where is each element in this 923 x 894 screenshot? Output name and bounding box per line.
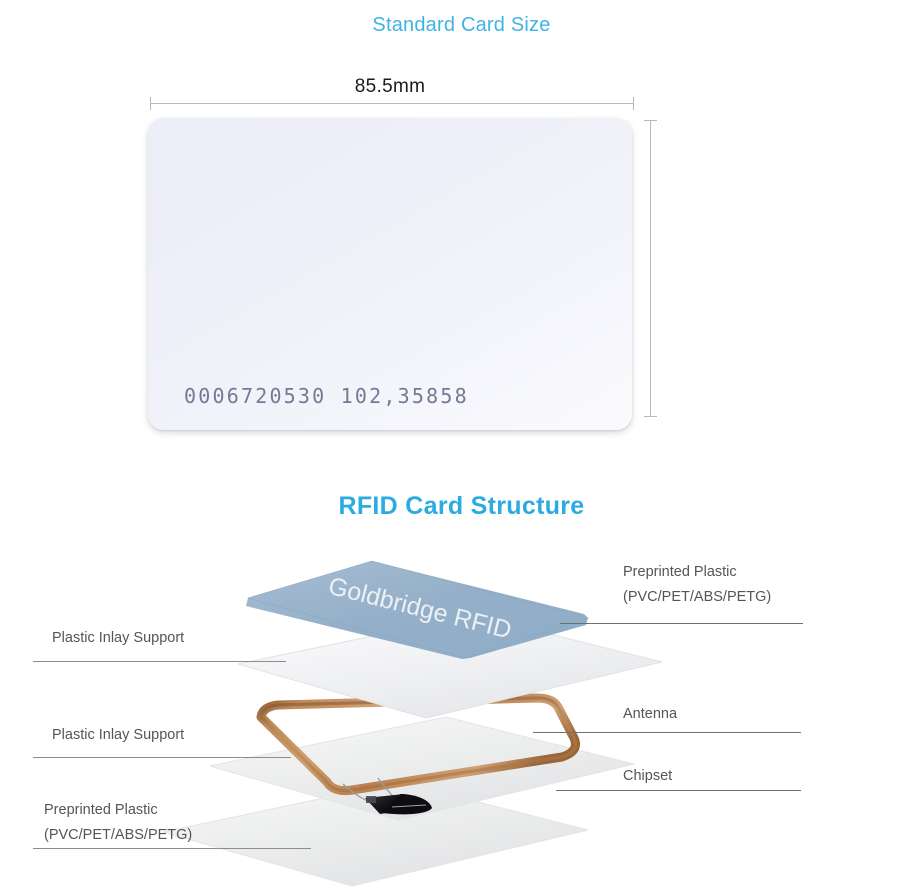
callout-line-2: (PVC/PET/ABS/PETG) — [623, 585, 771, 610]
leader-line-inlay-support-lower — [33, 757, 291, 758]
leader-line-preprinted-plastic-top — [560, 623, 803, 624]
card-serial-number: 0006720530 102,35858 — [184, 384, 469, 408]
callout-inlay-support-upper: Plastic Inlay Support — [52, 626, 184, 651]
callout-line-1: Plastic Inlay Support — [52, 630, 184, 646]
leader-line-inlay-support-upper — [33, 661, 286, 662]
callout-preprinted-plastic-top: Preprinted Plastic (PVC/PET/ABS/PETG) — [623, 560, 771, 610]
callout-inlay-support-lower: Plastic Inlay Support — [52, 723, 184, 748]
card-height-dimension-line — [650, 120, 651, 417]
callout-preprinted-plastic-bottom: Preprinted Plastic (PVC/PET/ABS/PETG) — [44, 798, 192, 848]
section-title-standard-card-size: Standard Card Size — [0, 14, 923, 37]
callout-line-1: Preprinted Plastic — [623, 564, 737, 580]
callout-line-1: Plastic Inlay Support — [52, 727, 184, 743]
standard-card-image: 0006720530 102,35858 — [148, 118, 632, 430]
callout-line-2: (PVC/PET/ABS/PETG) — [44, 823, 192, 848]
leader-line-chipset — [556, 790, 801, 791]
rfid-card-spec-page: Standard Card Size 85.5mm 54mm 000672053… — [0, 0, 923, 894]
callout-antenna: Antenna — [623, 702, 677, 727]
card-width-dimension-line — [150, 103, 634, 104]
callout-line-1: Antenna — [623, 706, 677, 722]
callout-line-1: Preprinted Plastic — [44, 802, 158, 818]
card-width-dimension-label: 85.5mm — [148, 76, 632, 98]
leader-line-preprinted-plastic-bottom — [33, 848, 311, 849]
section-title-rfid-card-structure: RFID Card Structure — [0, 492, 923, 521]
leader-line-antenna — [533, 732, 801, 733]
callout-line-1: Chipset — [623, 768, 672, 784]
callout-chipset: Chipset — [623, 764, 672, 789]
